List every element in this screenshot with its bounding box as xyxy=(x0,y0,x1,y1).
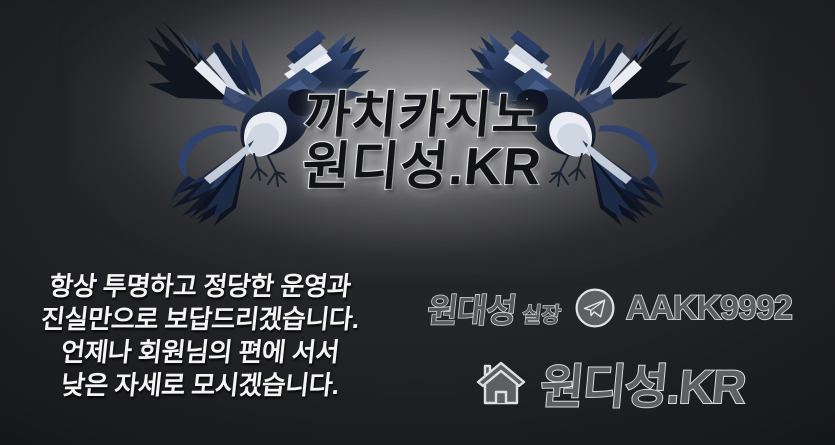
slogan-line-3: 언제나 회원님의 편에 서서 xyxy=(12,336,387,369)
brand-title-line-2: 원디성.KR xyxy=(270,144,574,192)
telegram-handle[interactable]: AAKK9992 xyxy=(626,289,792,328)
brand-title-line-1: 까치카지노 xyxy=(270,92,574,138)
banner-bottom-section: 항상 투명하고 정당한 운영과 진실만으로 보답드리겠습니다. 언제나 회원님의… xyxy=(0,262,835,445)
telegram-icon[interactable] xyxy=(574,287,616,329)
slogan-line-1: 항상 투명하고 정당한 운영과 xyxy=(12,270,387,303)
contact-row[interactable]: 원대성 실장 AAKK9992 xyxy=(400,284,820,332)
casino-promo-banner: 까치카지노 원디성.KR 항상 투명하고 정당한 운영과 진실만으로 보답드리겠… xyxy=(0,0,835,445)
brand-title: 까치카지노 원디성.KR xyxy=(272,92,572,192)
site-row[interactable]: 원디성.KR xyxy=(400,348,820,417)
slogan-block: 항상 투명하고 정당한 운영과 진실만으로 보답드리겠습니다. 언제나 회원님의… xyxy=(14,270,386,402)
home-icon[interactable] xyxy=(474,356,528,410)
site-domain[interactable]: 원디성.KR xyxy=(538,348,749,417)
slogan-line-4: 낮은 자세로 모시겠습니다. xyxy=(12,369,387,402)
manager-role: 실장 xyxy=(521,299,563,332)
slogan-line-2: 진실만으로 보답드리겠습니다. xyxy=(12,303,387,336)
manager-name: 원대성 xyxy=(426,284,519,332)
